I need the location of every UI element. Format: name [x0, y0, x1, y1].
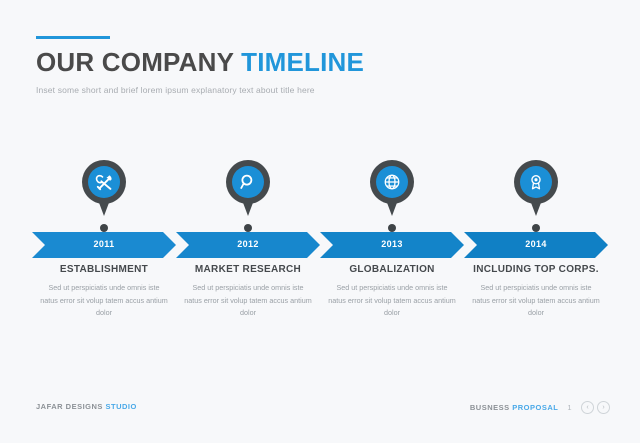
timeline-pin-2014[interactable] — [514, 160, 558, 218]
timeline-caption: GLOBALIZATION Sed ut perspiciatis unde o… — [320, 264, 464, 320]
milestone-body: Sed ut perspiciatis unde omnis iste natu… — [184, 282, 312, 320]
title-accent-rule — [36, 36, 110, 39]
timeline-caption: INCLUDING TOP CORPS. Sed ut perspiciatis… — [464, 264, 608, 320]
milestone-title: INCLUDING TOP CORPS. — [470, 264, 602, 275]
timeline-node-dot — [100, 224, 108, 232]
footer-meta: BUSNESS PROPOSAL 1 ‹ › — [470, 401, 610, 414]
milestone-title: ESTABLISHMENT — [38, 264, 170, 275]
timeline-node-dot — [388, 224, 396, 232]
timeline-pin-2011[interactable] — [82, 160, 126, 218]
timeline-caption: MARKET RESEARCH Sed ut perspiciatis unde… — [176, 264, 320, 320]
footer-doc-main: BUSNESS — [470, 403, 512, 412]
milestone-body: Sed ut perspiciatis unde omnis iste natu… — [472, 282, 600, 320]
footer-brand-main: JAFAR DESIGNS — [36, 402, 106, 411]
footer-brand: JAFAR DESIGNS STUDIO — [36, 402, 137, 411]
page-subtitle: Inset some short and brief lorem ipsum e… — [36, 85, 596, 95]
timeline-columns: ESTABLISHMENT Sed ut perspiciatis unde o… — [32, 160, 608, 330]
prev-page-button[interactable]: ‹ — [581, 401, 594, 414]
next-page-button[interactable]: › — [597, 401, 610, 414]
timeline-node-dot — [532, 224, 540, 232]
magnifier-icon — [232, 166, 264, 198]
footer-doc-accent: PROPOSAL — [512, 403, 558, 412]
milestone-title: MARKET RESEARCH — [182, 264, 314, 275]
page-title: OUR COMPANY TIMELINE — [36, 49, 596, 76]
globe-icon — [376, 166, 408, 198]
slide-header: OUR COMPANY TIMELINE Inset some short an… — [36, 36, 596, 95]
milestone-body: Sed ut perspiciatis unde omnis iste natu… — [40, 282, 168, 320]
slide-canvas: OUR COMPANY TIMELINE Inset some short an… — [0, 0, 640, 443]
milestone-body: Sed ut perspiciatis unde omnis iste natu… — [328, 282, 456, 320]
timeline-milestone-2012: MARKET RESEARCH Sed ut perspiciatis unde… — [176, 160, 320, 330]
timeline-milestone-2014: INCLUDING TOP CORPS. Sed ut perspiciatis… — [464, 160, 608, 330]
milestone-title: GLOBALIZATION — [326, 264, 458, 275]
page-title-main: OUR COMPANY — [36, 47, 241, 77]
timeline-caption: ESTABLISHMENT Sed ut perspiciatis unde o… — [32, 264, 176, 320]
timeline-node-dot — [244, 224, 252, 232]
timeline-pin-2013[interactable] — [370, 160, 414, 218]
pager: ‹ › — [581, 401, 610, 414]
page-title-accent: TIMELINE — [241, 47, 364, 77]
footer-brand-accent: STUDIO — [106, 402, 137, 411]
tools-icon — [88, 166, 120, 198]
timeline: 2011 2012 2013 2014 — [32, 160, 608, 330]
timeline-milestone-2013: GLOBALIZATION Sed ut perspiciatis unde o… — [320, 160, 464, 330]
award-icon — [520, 166, 552, 198]
timeline-pin-2012[interactable] — [226, 160, 270, 218]
page-number: 1 — [567, 403, 572, 412]
footer-doc-title: BUSNESS PROPOSAL — [470, 403, 558, 412]
timeline-milestone-2011: ESTABLISHMENT Sed ut perspiciatis unde o… — [32, 160, 176, 330]
